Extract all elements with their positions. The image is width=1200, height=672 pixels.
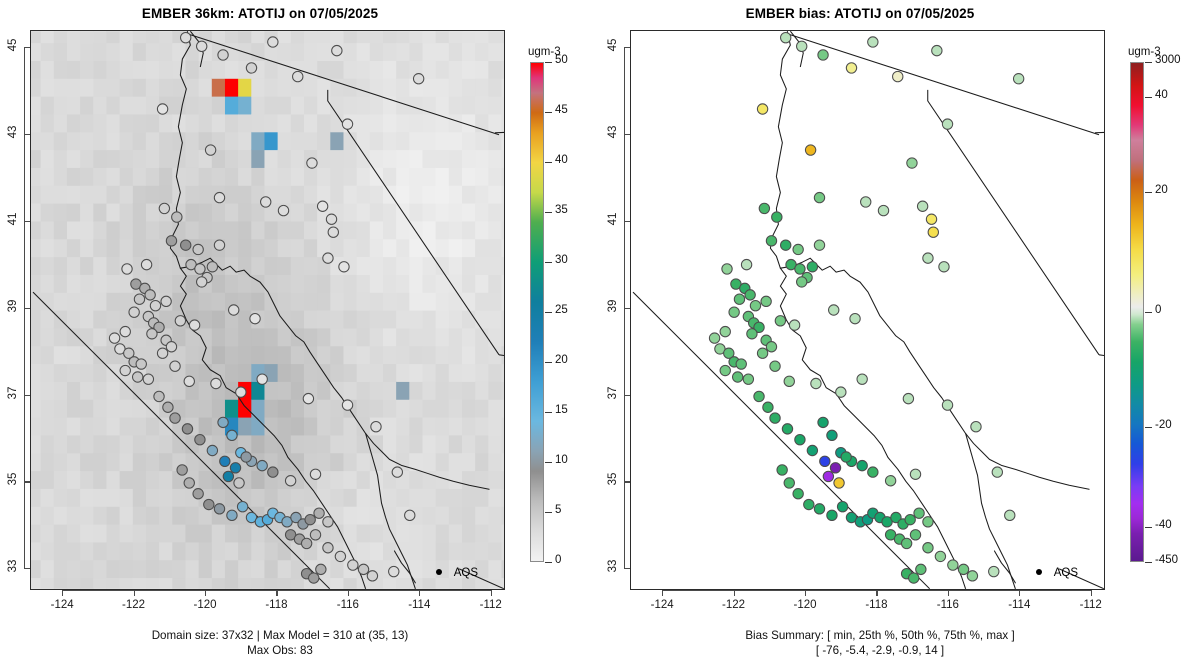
model-grid-cell (422, 560, 436, 578)
aqs-bias-point (709, 333, 719, 343)
model-grid-cell (422, 346, 436, 364)
model-grid-cell (93, 257, 107, 275)
model-grid-cell (383, 96, 397, 114)
aqs-bias-point (850, 313, 860, 323)
model-grid-cell (264, 488, 278, 506)
model-grid-cell (343, 524, 357, 542)
model-grid-cell (106, 43, 120, 61)
aqs-bias-point (841, 452, 851, 462)
model-grid-cell (67, 132, 81, 150)
model-grid-cell (133, 435, 147, 453)
model-grid-cell (383, 292, 397, 310)
colorbar-tick-label: 50 (555, 54, 568, 66)
model-grid-cell (343, 292, 357, 310)
model-grid-cell (317, 399, 331, 417)
aqs-bias-point (793, 489, 803, 499)
model-grid-cell (67, 506, 81, 524)
model-grid-cell (133, 239, 147, 257)
model-grid-cell (502, 150, 504, 168)
model-grid-cell (159, 150, 173, 168)
model-grid-cell (343, 577, 357, 589)
aqs-observation-point (342, 119, 352, 129)
model-grid-cell (370, 292, 384, 310)
model-grid-cell (212, 31, 226, 43)
model-grid-cell (502, 310, 504, 328)
model-grid-cell (462, 453, 476, 471)
model-grid-cell (278, 328, 292, 346)
model-grid-cell (67, 346, 81, 364)
model-grid-cell (225, 132, 239, 150)
model-grid-cell (31, 542, 41, 560)
model-grid-cell (449, 542, 463, 560)
aqs-bias-point (781, 32, 791, 42)
model-grid-cell (502, 96, 504, 114)
model-grid-cell (67, 560, 81, 578)
model-grid-cell (278, 542, 292, 560)
model-grid-cell (159, 577, 173, 589)
aqs-observation-point (195, 264, 205, 274)
model-grid-cell (106, 577, 120, 589)
model-grid-cell (54, 274, 68, 292)
model-grid-cell (488, 60, 502, 78)
model-grid-cell (93, 542, 107, 560)
model-grid-cell (370, 167, 384, 185)
model-grid-cell (106, 506, 120, 524)
model-grid-cell (422, 78, 436, 96)
model-grid-cell (422, 542, 436, 560)
model-grid-cell (278, 43, 292, 61)
model-grid-cell (383, 167, 397, 185)
model-grid-cell (278, 560, 292, 578)
model-grid-cell (172, 577, 186, 589)
model-grid-cell (488, 560, 502, 578)
aqs-observation-point (392, 467, 402, 477)
model-grid-cell (133, 203, 147, 221)
model-grid-cell (185, 203, 199, 221)
model-grid-cell (370, 524, 384, 542)
model-grid-cell (31, 435, 41, 453)
model-grid-cell (462, 346, 476, 364)
model-grid-cell (330, 577, 344, 589)
model-grid-cell (436, 274, 450, 292)
aqs-bias-point (971, 422, 981, 432)
model-grid-cell (54, 399, 68, 417)
model-grid-cell (106, 60, 120, 78)
x-tick-label: -114 (996, 599, 1042, 611)
model-grid-cell (278, 185, 292, 203)
y-tick (24, 221, 30, 222)
model-grid-cell (238, 274, 252, 292)
model-grid-cell (291, 185, 305, 203)
model-grid-cell (264, 524, 278, 542)
model-grid-cell (238, 363, 252, 381)
model-grid-cell (93, 470, 107, 488)
model-grid-cell (238, 167, 252, 185)
model-grid-cell (80, 274, 94, 292)
y-tick-label: 39 (7, 295, 19, 317)
model-grid-cell (343, 435, 357, 453)
model-grid-cell (409, 488, 423, 506)
model-grid-cell (159, 470, 173, 488)
aqs-observation-point (405, 510, 415, 520)
model-grid-cell (172, 488, 186, 506)
model-grid-cell (462, 132, 476, 150)
model-grid-cell (159, 560, 173, 578)
model-grid-cell (93, 488, 107, 506)
model-grid-cell (409, 274, 423, 292)
model-grid-cell (436, 167, 450, 185)
model-grid-cell (330, 239, 344, 257)
aqs-bias-point (914, 508, 924, 518)
model-grid-cell (146, 185, 160, 203)
model-grid-cell (422, 399, 436, 417)
model-grid-cell (357, 470, 371, 488)
model-grid-cell (396, 185, 410, 203)
model-grid-cell (67, 453, 81, 471)
model-grid-cell (185, 292, 199, 310)
model-grid-cell (172, 381, 186, 399)
model-grid-cell (31, 310, 41, 328)
aqs-observation-point (335, 551, 345, 561)
model-grid-cell (449, 524, 463, 542)
model-grid-cell (225, 542, 239, 560)
model-grid-cell (436, 524, 450, 542)
colorbar-tick (1145, 562, 1152, 563)
model-grid-cell (264, 577, 278, 589)
aqs-legend-dot (436, 569, 442, 575)
x-tick-label: -114 (396, 599, 442, 611)
model-grid-cell (54, 96, 68, 114)
model-grid-cell (409, 292, 423, 310)
aqs-bias-point (759, 203, 769, 213)
colorbar-tick (1145, 527, 1152, 528)
model-grid-cell (475, 542, 489, 560)
model-grid-cell (159, 542, 173, 560)
y-tick (24, 308, 30, 309)
model-grid-cell (422, 31, 436, 43)
model-grid-cell (449, 185, 463, 203)
model-grid-cell (67, 292, 81, 310)
model-grid-cell (409, 328, 423, 346)
aqs-bias-point (781, 240, 791, 250)
aqs-bias-point (804, 499, 814, 509)
model-grid-cell (330, 132, 344, 150)
model-grid-cell (41, 542, 55, 560)
model-grid-cell (462, 185, 476, 203)
aqs-observation-point (157, 104, 167, 114)
colorbar-tick-label: -20 (1155, 419, 1172, 431)
aqs-observation-point (314, 508, 324, 518)
model-grid-cell (449, 96, 463, 114)
model-grid-cell (330, 346, 344, 364)
model-grid-cell (106, 203, 120, 221)
model-grid-cell (422, 488, 436, 506)
model-grid-cell (146, 43, 160, 61)
aqs-observation-point (358, 564, 368, 574)
model-grid-cell (449, 167, 463, 185)
model-grid-cell (67, 239, 81, 257)
aqs-observation-point (134, 294, 144, 304)
model-grid-cell (436, 132, 450, 150)
model-grid-cell (488, 435, 502, 453)
aqs-bias-point (775, 316, 785, 326)
model-grid-cell (357, 257, 371, 275)
colorbar-tick (1145, 97, 1152, 98)
model-grid-cell (436, 453, 450, 471)
model-grid-cell (462, 274, 476, 292)
model-grid-cell (488, 506, 502, 524)
model-grid-cell (291, 96, 305, 114)
model-grid-cell (409, 577, 423, 589)
aqs-observation-point (328, 227, 338, 237)
model-grid-cell (488, 257, 502, 275)
panel-bias-title: EMBER bias: ATOTIJ on 07/05/2025 (600, 6, 1120, 21)
model-grid-cell (488, 114, 502, 132)
aqs-observation-point (285, 476, 295, 486)
colorbar-tick-label: 25 (555, 304, 568, 316)
model-grid-cell (422, 328, 436, 346)
model-grid-cell (185, 560, 199, 578)
model-grid-cell (106, 150, 120, 168)
model-grid-cell (225, 328, 239, 346)
aqs-observation-point (170, 413, 180, 423)
model-grid-cell (67, 417, 81, 435)
model-grid-cell (409, 150, 423, 168)
aqs-bias-point (928, 227, 938, 237)
model-grid-cell (41, 167, 55, 185)
aqs-bias-point (784, 376, 794, 386)
x-tick (62, 590, 63, 596)
aqs-bias-point (932, 45, 942, 55)
y-tick (24, 134, 30, 135)
model-grid-cell (422, 60, 436, 78)
model-grid-cell (357, 506, 371, 524)
model-grid-cell (304, 257, 318, 275)
model-grid-cell (291, 167, 305, 185)
model-grid-cell (41, 203, 55, 221)
aqs-observation-point (195, 435, 205, 445)
model-grid-cell (409, 363, 423, 381)
aqs-observation-point (120, 365, 130, 375)
model-grid-cell (383, 274, 397, 292)
model-grid-cell (146, 542, 160, 560)
model-grid-cell (146, 132, 160, 150)
model-grid-cell (475, 167, 489, 185)
model-grid-cell (502, 577, 504, 589)
aqs-bias-point (910, 469, 920, 479)
aqs-observation-point (109, 333, 119, 343)
model-grid-cell (330, 399, 344, 417)
aqs-observation-point (207, 262, 217, 272)
x-tick-label: -116 (925, 599, 971, 611)
aqs-observation-point (214, 240, 224, 250)
model-grid-cell (291, 310, 305, 328)
model-grid-cell (120, 221, 134, 239)
model-grid-cell (80, 560, 94, 578)
model-grid-cell (31, 60, 41, 78)
model-grid-cell (409, 96, 423, 114)
model-grid-cell (343, 417, 357, 435)
model-grid-cell (475, 221, 489, 239)
model-grid-cell (133, 43, 147, 61)
model-grid-cell (278, 453, 292, 471)
aqs-observation-point (189, 320, 199, 330)
colorbar-tick (1145, 312, 1152, 313)
model-grid-cell (133, 185, 147, 203)
model-grid-cell (343, 150, 357, 168)
model-grid-cell (133, 542, 147, 560)
model-grid-cell (41, 399, 55, 417)
colorbar-tick-label: -450 (1155, 554, 1178, 566)
model-grid-cell (146, 453, 160, 471)
model-grid-cell (212, 577, 226, 589)
model-grid-cell (422, 381, 436, 399)
model-grid-cell (370, 310, 384, 328)
y-tick (624, 221, 630, 222)
model-grid-cell (462, 524, 476, 542)
y-tick-label: 39 (607, 295, 619, 317)
model-grid-cell (422, 221, 436, 239)
model-grid-cell (462, 328, 476, 346)
model-grid-cell (251, 114, 265, 132)
colorbar-tick (545, 62, 552, 63)
aqs-bias-point (811, 378, 821, 388)
model-grid-cell (31, 346, 41, 364)
model-grid-cell (225, 363, 239, 381)
x-tick-label: -120 (782, 599, 828, 611)
aqs-bias-point (757, 348, 767, 358)
x-tick (348, 590, 349, 596)
model-grid-cell (238, 132, 252, 150)
model-grid-cell (343, 221, 357, 239)
model-grid-cell (304, 96, 318, 114)
model-grid-cell (80, 203, 94, 221)
model-grid-cell (383, 239, 397, 257)
aqs-observation-point (316, 564, 326, 574)
model-grid-cell (264, 542, 278, 560)
aqs-observation-point (323, 517, 333, 527)
model-grid-cell (357, 453, 371, 471)
aqs-observation-point (141, 259, 151, 269)
model-grid-cell (238, 203, 252, 221)
model-grid-cell (502, 167, 504, 185)
model-grid-cell (488, 399, 502, 417)
model-grid-cell (159, 257, 173, 275)
aqs-observation-point (166, 342, 176, 352)
model-grid-cell (31, 453, 41, 471)
aqs-observation-point (177, 465, 187, 475)
model-grid-cell (80, 150, 94, 168)
model-grid-cell (396, 399, 410, 417)
model-grid-cell (278, 399, 292, 417)
model-grid-cell (396, 150, 410, 168)
model-grid-cell (449, 453, 463, 471)
model-grid-cell (278, 346, 292, 364)
caption-bias-line1: Bias Summary: [ min, 25th %, 50th %, 75t… (600, 628, 1160, 643)
model-grid-cell (93, 417, 107, 435)
aqs-bias-point (942, 400, 952, 410)
model-grid-cell (67, 78, 81, 96)
model-grid-cell (436, 150, 450, 168)
model-grid-cell (41, 78, 55, 96)
model-grid-cell (185, 399, 199, 417)
model-grid-cell (462, 417, 476, 435)
model-grid-cell (449, 346, 463, 364)
model-grid-cell (291, 274, 305, 292)
model-grid-cell (383, 346, 397, 364)
model-grid-cell (462, 399, 476, 417)
model-grid-cell (436, 96, 450, 114)
model-grid-cell (67, 435, 81, 453)
model-grid-cell (357, 185, 371, 203)
model-grid-cell (41, 560, 55, 578)
model-grid-cell (343, 453, 357, 471)
model-grid-cell (225, 577, 239, 589)
caption-model-line2: Max Obs: 83 (0, 643, 560, 658)
colorbar-tick-label: 45 (555, 104, 568, 116)
model-grid-cell (475, 435, 489, 453)
model-grid-cell (291, 435, 305, 453)
model-grid-cell (436, 488, 450, 506)
model-grid-cell (41, 488, 55, 506)
model-grid-cell (67, 470, 81, 488)
model-grid-cell (502, 203, 504, 221)
model-grid-cell (330, 435, 344, 453)
model-grid-cell (31, 274, 41, 292)
model-grid-cell (422, 310, 436, 328)
model-grid-cell (396, 31, 410, 43)
model-grid-cell (409, 310, 423, 328)
model-grid-cell (264, 96, 278, 114)
model-grid-cell (31, 132, 41, 150)
model-grid-cell (238, 257, 252, 275)
model-grid-cell (80, 381, 94, 399)
model-grid-cell (238, 328, 252, 346)
model-grid-cell (80, 310, 94, 328)
aqs-bias-point (916, 564, 926, 574)
model-grid-cell (106, 470, 120, 488)
model-grid-cell (238, 524, 252, 542)
model-grid-cell (291, 114, 305, 132)
model-grid-cell (278, 132, 292, 150)
model-grid-cell (106, 185, 120, 203)
model-grid-cell (449, 470, 463, 488)
model-grid-cell (317, 381, 331, 399)
aqs-bias-point (823, 471, 833, 481)
model-grid-cell (475, 96, 489, 114)
model-grid-cell (357, 328, 371, 346)
model-grid-cell (238, 31, 252, 43)
colorbar-tick (545, 162, 552, 163)
model-grid-cell (409, 239, 423, 257)
aqs-observation-point (204, 499, 214, 509)
model-grid-cell (185, 577, 199, 589)
model-grid-cell (343, 96, 357, 114)
model-grid-cell (343, 470, 357, 488)
model-grid-cell (330, 31, 344, 43)
model-grid-cell (304, 239, 318, 257)
model-grid-cell (225, 274, 239, 292)
y-tick (624, 395, 630, 396)
model-grid-cell (120, 470, 134, 488)
y-tick-label: 41 (607, 208, 619, 230)
model-grid-cell (31, 257, 41, 275)
model-grid-cell (93, 167, 107, 185)
model-grid-cell (475, 524, 489, 542)
model-grid-cell (159, 435, 173, 453)
model-grid-cell (370, 221, 384, 239)
model-grid-cell (185, 96, 199, 114)
